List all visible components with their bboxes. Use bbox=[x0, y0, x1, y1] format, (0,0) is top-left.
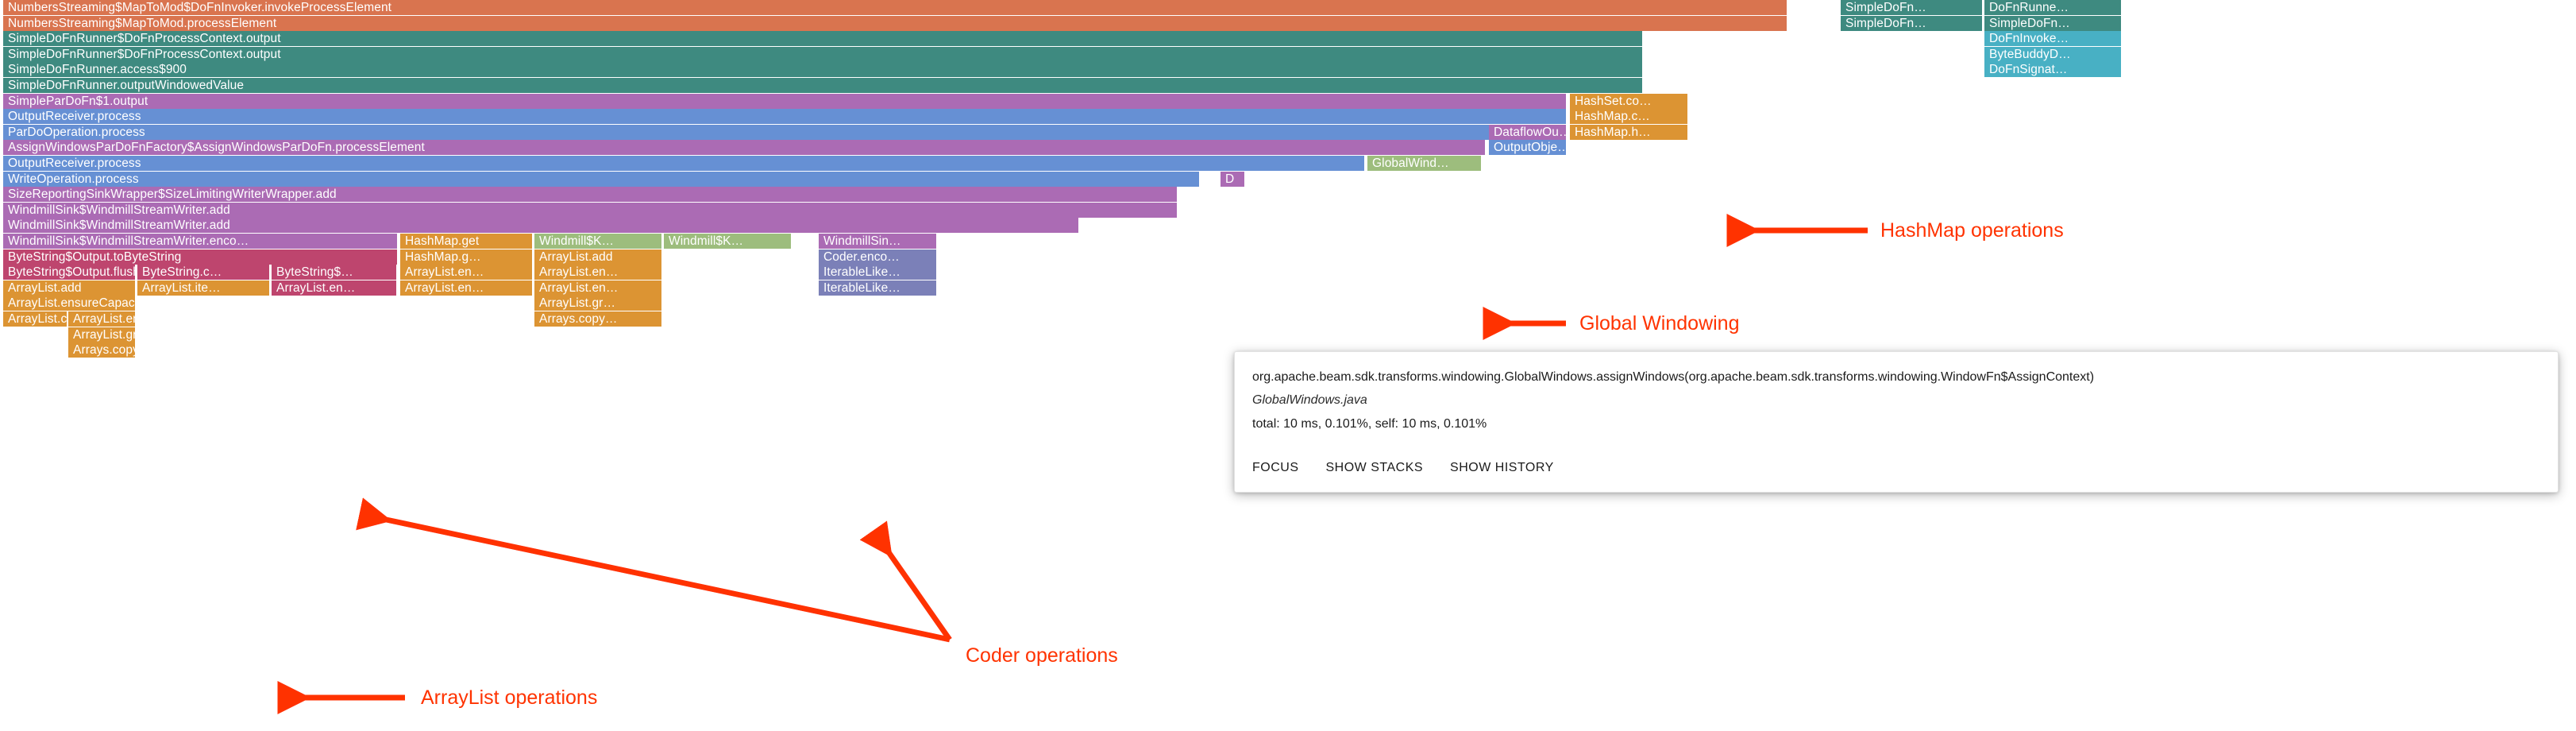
flame-frame[interactable]: Windmill$K… bbox=[534, 234, 661, 249]
flame-frame[interactable]: WriteOperation.process bbox=[3, 172, 1199, 187]
flame-frame-label: WindmillSink$WindmillStreamWriter.enco… bbox=[8, 234, 249, 248]
flame-frame-label: ArrayList.ca… bbox=[8, 312, 67, 326]
flame-frame[interactable]: ArrayList.gr… bbox=[68, 327, 135, 342]
flame-frame-label: DoFnSignat… bbox=[1989, 63, 2067, 76]
flame-frame-label: HashSet.co… bbox=[1575, 95, 1652, 108]
flame-frame[interactable]: ArrayList.en… bbox=[68, 311, 135, 327]
flame-frame-label: ParDoOperation.process bbox=[8, 126, 145, 139]
focus-button[interactable]: FOCUS bbox=[1252, 459, 1299, 477]
flame-frame-label: ArrayList.en… bbox=[276, 281, 356, 295]
flame-frame[interactable]: WindmillSin… bbox=[819, 234, 936, 249]
flame-frame[interactable]: OutputReceiver.process bbox=[3, 109, 1566, 124]
flame-frame[interactable]: SimpleParDoFn$1.output bbox=[3, 94, 1566, 109]
flame-frame[interactable]: WindmillSink$WindmillStreamWriter.add bbox=[3, 203, 1177, 218]
flame-frame-label: HashMap.get bbox=[405, 234, 479, 248]
flame-frame[interactable]: IterableLike… bbox=[819, 265, 936, 280]
flame-frame-label: ByteString$Output.flushLa… bbox=[8, 265, 135, 279]
flame-frame[interactable]: WindmillSink$WindmillStreamWriter.enco… bbox=[3, 234, 397, 249]
flame-frame-label: GlobalWind… bbox=[1372, 157, 1449, 170]
flame-frame-label: ArrayList.en… bbox=[539, 265, 619, 279]
flame-frame-label: ByteString.c… bbox=[142, 265, 222, 279]
flame-frame-label: HashMap.g… bbox=[405, 250, 481, 264]
flame-frame[interactable]: SimpleDoFn… bbox=[1841, 16, 1982, 31]
flame-frame[interactable]: DoFnRunne… bbox=[1984, 0, 2121, 15]
flame-frame-label: WindmillSink$WindmillStreamWriter.add bbox=[8, 219, 230, 232]
flame-frame[interactable]: OutputObje… bbox=[1489, 140, 1566, 155]
flame-frame-label: ByteBuddyD… bbox=[1989, 48, 2071, 61]
flame-frame-label: D bbox=[1225, 172, 1234, 186]
flame-frame[interactable]: GlobalWind… bbox=[1367, 156, 1481, 171]
flame-frame[interactable]: Arrays.copy… bbox=[534, 311, 661, 327]
flame-frame-label: SimpleDoFn… bbox=[1989, 17, 2070, 30]
flame-frame-label: ArrayList.en… bbox=[539, 281, 619, 295]
flame-frame-label: SimpleDoFnRunner.outputWindowedValue bbox=[8, 79, 244, 92]
flame-frame[interactable]: DoFnInvoke… bbox=[1984, 31, 2121, 46]
flame-frame-label: ArrayList.ite… bbox=[142, 281, 221, 295]
flame-graph-canvas[interactable]: NumbersStreaming$MapToMod$DoFnInvoker.in… bbox=[0, 0, 2576, 731]
flame-frame[interactable]: OutputReceiver.process bbox=[3, 156, 1364, 171]
flame-frame-label: AssignWindowsParDoFnFactory$AssignWindow… bbox=[8, 141, 425, 154]
flame-frame[interactable]: Arrays.copy… bbox=[68, 342, 135, 358]
flame-frame[interactable]: SimpleDoFnRunner.access$900 bbox=[3, 62, 1642, 77]
show-history-button[interactable]: SHOW HISTORY bbox=[1450, 459, 1554, 477]
flame-frame-label: HashMap.c… bbox=[1575, 110, 1650, 123]
flame-frame[interactable]: ArrayList.add bbox=[3, 280, 135, 296]
flame-frame[interactable]: HashMap.g… bbox=[400, 249, 532, 265]
flame-frame-label: OutputObje… bbox=[1494, 141, 1566, 154]
flame-frame[interactable]: D bbox=[1221, 172, 1244, 187]
flame-frame-label: WriteOperation.process bbox=[8, 172, 139, 186]
flame-frame-label: IterableLike… bbox=[823, 281, 900, 295]
flame-frame-label: Windmill$K… bbox=[539, 234, 614, 248]
flame-frame-label: ArrayList.ensureCapacityIn… bbox=[8, 296, 135, 310]
flame-frame[interactable]: AssignWindowsParDoFnFactory$AssignWindow… bbox=[3, 140, 1485, 155]
flame-frame-label: ArrayList.gr… bbox=[73, 328, 135, 342]
flame-frame-label: ByteString$Output.toByteString bbox=[8, 250, 181, 264]
flame-frame-label: IterableLike… bbox=[823, 265, 900, 279]
flame-frame[interactable]: HashSet.co… bbox=[1570, 94, 1687, 109]
flame-frame-label: SimpleDoFn… bbox=[1845, 17, 1926, 30]
flame-frame[interactable]: ArrayList.en… bbox=[400, 280, 532, 296]
flame-frame-label: ArrayList.add bbox=[539, 250, 613, 264]
flame-frame-label: OutputReceiver.process bbox=[8, 110, 141, 123]
tooltip-actions: FOCUS SHOW STACKS SHOW HISTORY bbox=[1252, 459, 2540, 477]
flame-frame-label: OutputReceiver.process bbox=[8, 157, 141, 170]
flame-frame-label: WindmillSin… bbox=[823, 234, 901, 248]
flame-frame-label: SimpleDoFn… bbox=[1845, 1, 1926, 14]
flame-frame-label: DoFnInvoke… bbox=[1989, 32, 2069, 45]
flame-frame[interactable]: ByteString.c… bbox=[137, 265, 269, 280]
flame-frame[interactable]: ArrayList.ca… bbox=[3, 311, 67, 327]
flame-frame[interactable]: ParDoOperation.process bbox=[3, 125, 1506, 140]
flame-frame-label: SizeReportingSinkWrapper$SizeLimitingWri… bbox=[8, 188, 337, 201]
flame-frame[interactable]: Coder.enco… bbox=[819, 249, 936, 265]
annotation-coder-operations: Coder operations bbox=[966, 644, 1118, 667]
flame-frame[interactable]: ArrayList.en… bbox=[272, 280, 396, 296]
tooltip-signature: org.apache.beam.sdk.transforms.windowing… bbox=[1252, 369, 2540, 385]
flame-frame[interactable]: ArrayList.gr… bbox=[534, 296, 661, 311]
flame-frame-label: NumbersStreaming$MapToMod$DoFnInvoker.in… bbox=[8, 1, 391, 14]
flame-frame[interactable]: HashMap.h… bbox=[1570, 125, 1687, 140]
flame-frame[interactable]: IterableLike… bbox=[819, 280, 936, 296]
flame-frame[interactable]: DoFnSignat… bbox=[1984, 62, 2121, 77]
flame-frame[interactable]: ByteString$… bbox=[272, 265, 396, 280]
show-stacks-button[interactable]: SHOW STACKS bbox=[1326, 459, 1424, 477]
tooltip-source-file: GlobalWindows.java bbox=[1252, 393, 2540, 408]
flame-frame[interactable]: SimpleDoFn… bbox=[1984, 16, 2121, 31]
frame-detail-tooltip[interactable]: org.apache.beam.sdk.transforms.windowing… bbox=[1234, 351, 2559, 493]
flame-frame[interactable]: SizeReportingSinkWrapper$SizeLimitingWri… bbox=[3, 187, 1177, 202]
flame-frame-label: HashMap.h… bbox=[1575, 126, 1651, 139]
flame-frame[interactable]: ByteBuddyD… bbox=[1984, 47, 2121, 62]
flame-frame[interactable]: SimpleDoFn… bbox=[1841, 0, 1982, 15]
flame-frame-label: Coder.enco… bbox=[823, 250, 900, 264]
flame-frame-label: ArrayList.en… bbox=[405, 281, 484, 295]
annotation-arraylist-operations: ArrayList operations bbox=[421, 687, 597, 710]
flame-frame[interactable]: ArrayList.ensureCapacityIn… bbox=[3, 296, 135, 311]
flame-frame-label: WindmillSink$WindmillStreamWriter.add bbox=[8, 203, 230, 217]
flame-frame[interactable]: Windmill$K… bbox=[664, 234, 791, 249]
flame-frame[interactable]: HashMap.get bbox=[400, 234, 532, 249]
flame-frame[interactable]: ByteString$Output.flushLa… bbox=[3, 265, 135, 280]
flame-frame-label: ArrayList.en… bbox=[73, 312, 135, 326]
tooltip-stats: total: 10 ms, 0.101%, self: 10 ms, 0.101… bbox=[1252, 416, 2540, 432]
flame-frame[interactable]: NumbersStreaming$MapToMod.processElement bbox=[3, 16, 1787, 31]
flame-frame-label: Windmill$K… bbox=[669, 234, 743, 248]
flame-frame[interactable]: NumbersStreaming$MapToMod$DoFnInvoker.in… bbox=[3, 0, 1787, 15]
flame-frame-label: Arrays.copy… bbox=[539, 312, 618, 326]
flame-frame-label: ArrayList.add bbox=[8, 281, 82, 295]
flame-frame-label: SimpleParDoFn$1.output bbox=[8, 95, 148, 108]
annotation-global-windowing: Global Windowing bbox=[1579, 312, 1740, 335]
flame-frame-label: DoFnRunne… bbox=[1989, 1, 2069, 14]
flame-frame-label: NumbersStreaming$MapToMod.processElement bbox=[8, 17, 276, 30]
flame-frame[interactable]: ArrayList.add bbox=[534, 249, 661, 265]
flame-frame[interactable]: SimpleDoFnRunner.outputWindowedValue bbox=[3, 78, 1642, 93]
flame-frame-label: ArrayList.gr… bbox=[539, 296, 615, 310]
flame-frame[interactable]: ArrayList.en… bbox=[534, 265, 661, 280]
flame-frame-label: ArrayList.en… bbox=[405, 265, 484, 279]
flame-frame[interactable]: DataflowOu… bbox=[1489, 125, 1566, 140]
annotation-hashmap-operations: HashMap operations bbox=[1880, 219, 2064, 242]
flame-frame-label: ByteString$… bbox=[276, 265, 353, 279]
flame-frame-label: SimpleDoFnRunner$DoFnProcessContext.outp… bbox=[8, 32, 281, 45]
flame-frame[interactable]: HashMap.c… bbox=[1570, 109, 1687, 124]
flame-frame-label: SimpleDoFnRunner.access$900 bbox=[8, 63, 187, 76]
flame-frame-label: Arrays.copy… bbox=[73, 343, 135, 357]
flame-frame[interactable]: ArrayList.ite… bbox=[137, 280, 269, 296]
flame-frame-label: SimpleDoFnRunner$DoFnProcessContext.outp… bbox=[8, 48, 281, 61]
flame-frame[interactable]: SimpleDoFnRunner$DoFnProcessContext.outp… bbox=[3, 31, 1642, 46]
flame-frame[interactable]: ByteString$Output.toByteString bbox=[3, 249, 397, 265]
flame-frame[interactable]: ArrayList.en… bbox=[400, 265, 532, 280]
flame-frame[interactable]: SimpleDoFnRunner$DoFnProcessContext.outp… bbox=[3, 47, 1642, 62]
flame-frame-label: DataflowOu… bbox=[1494, 126, 1566, 139]
flame-frame[interactable]: ArrayList.en… bbox=[534, 280, 661, 296]
flame-frame[interactable]: WindmillSink$WindmillStreamWriter.add bbox=[3, 218, 1078, 233]
